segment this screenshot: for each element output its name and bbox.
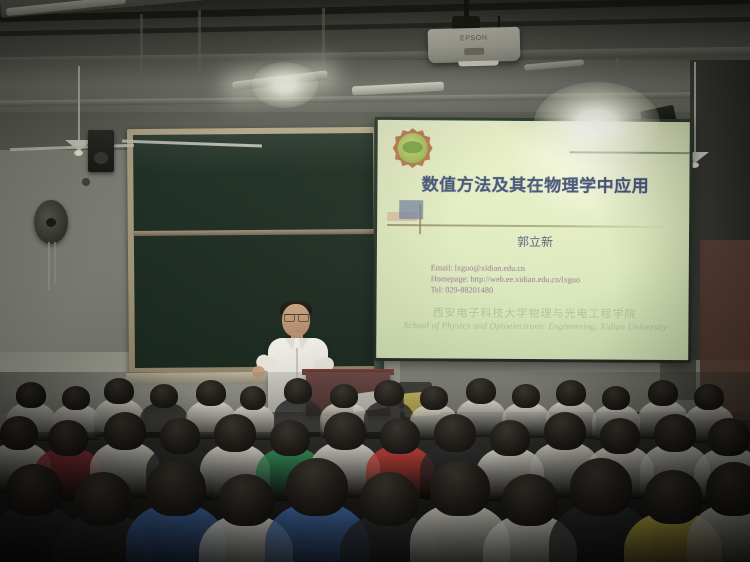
- speaker-cone-icon: [94, 152, 108, 164]
- student-head: [360, 472, 418, 526]
- shirt-collar-right: [299, 338, 309, 351]
- student-head: [324, 412, 366, 450]
- student-head: [708, 418, 750, 456]
- chalkboard-divider: [134, 229, 374, 236]
- fan-pull-cord[interactable]: [48, 242, 50, 290]
- student-head: [644, 470, 702, 524]
- student-head: [602, 386, 630, 410]
- fan-pull-cord[interactable]: [54, 242, 56, 284]
- shirt-collar-left: [285, 338, 295, 351]
- student-head: [6, 464, 62, 516]
- fan-hub-icon: [46, 218, 56, 227]
- student-head: [502, 474, 558, 526]
- student-head: [240, 386, 266, 410]
- lamp-cord: [78, 66, 80, 142]
- conduit-pipe: [140, 14, 143, 74]
- student-head: [420, 386, 448, 410]
- student-head: [16, 382, 46, 408]
- student-head: [146, 460, 206, 516]
- conduit-pipe: [322, 8, 325, 66]
- student-head: [330, 384, 358, 408]
- projection-screen: 数值方法及其在物理学中应用 郭立新 Email: lxguo@xidian.ed…: [373, 117, 693, 363]
- eyeglasses-lens-right: [298, 314, 309, 322]
- student-head: [556, 380, 586, 406]
- student-head: [380, 418, 420, 454]
- student-head: [286, 458, 348, 516]
- projector-brand-label: EPSON: [428, 34, 520, 43]
- student-head: [74, 472, 132, 526]
- xidian-university-emblem-icon: [392, 128, 432, 168]
- student-head: [214, 414, 256, 452]
- slide-presenter-name: 郭立新: [391, 232, 679, 251]
- student-head: [284, 378, 312, 404]
- eyeglasses-lens-left: [284, 314, 295, 322]
- student-head: [0, 416, 38, 450]
- emblem-center-glyph: [403, 141, 423, 153]
- slide-decoration-vline: [419, 204, 421, 234]
- projector-foot: [458, 60, 498, 66]
- seated-students: [0, 372, 750, 562]
- conduit-pipe: [616, 58, 619, 108]
- student-head: [570, 458, 632, 516]
- chalkboard-glare: [133, 133, 373, 175]
- student-head: [104, 412, 146, 450]
- student-head: [694, 384, 724, 410]
- lamp-bulb-icon: [74, 150, 83, 156]
- slide-title: 数值方法及其在物理学中应用: [391, 170, 679, 197]
- student-head: [490, 420, 530, 456]
- student-head: [466, 378, 496, 404]
- slide-contact-block: Email: lxguo@xidian.edu.cn Homepage: htt…: [431, 262, 681, 297]
- lamp-cord: [694, 62, 696, 154]
- slide-top-rule: [570, 151, 690, 153]
- student-head: [512, 384, 540, 408]
- student-head: [430, 460, 490, 516]
- student-head: [600, 418, 640, 454]
- slide-tel: Tel: 029-88201480: [431, 284, 681, 297]
- conduit-pipe: [198, 10, 201, 76]
- student-head: [374, 380, 404, 406]
- student-head: [434, 414, 476, 452]
- student-head: [48, 420, 88, 456]
- slide-divider-line: [387, 224, 669, 227]
- wall-fitting: [82, 178, 90, 186]
- student-head: [160, 418, 200, 454]
- student-head: [648, 380, 678, 406]
- student-head: [654, 414, 696, 452]
- ceiling-projector: EPSON: [428, 27, 521, 63]
- student-head: [706, 462, 750, 516]
- student-head: [150, 384, 178, 408]
- projector-lens-icon: [464, 48, 484, 56]
- lecture-hall-photo: EPSON 数值方法及其在物理学中应用: [0, 0, 750, 562]
- wall-fan: [34, 200, 68, 244]
- student-head: [196, 380, 226, 406]
- student-head: [544, 412, 586, 450]
- student-head: [62, 386, 90, 410]
- student-head: [270, 420, 310, 456]
- student-head: [218, 474, 274, 526]
- student-head: [104, 378, 134, 404]
- slide-affiliation-en: School of Physics and Optoelectronic Eng…: [380, 320, 689, 332]
- projected-slide: 数值方法及其在物理学中应用 郭立新 Email: lxguo@xidian.ed…: [376, 120, 690, 360]
- wall-speaker: [88, 130, 114, 172]
